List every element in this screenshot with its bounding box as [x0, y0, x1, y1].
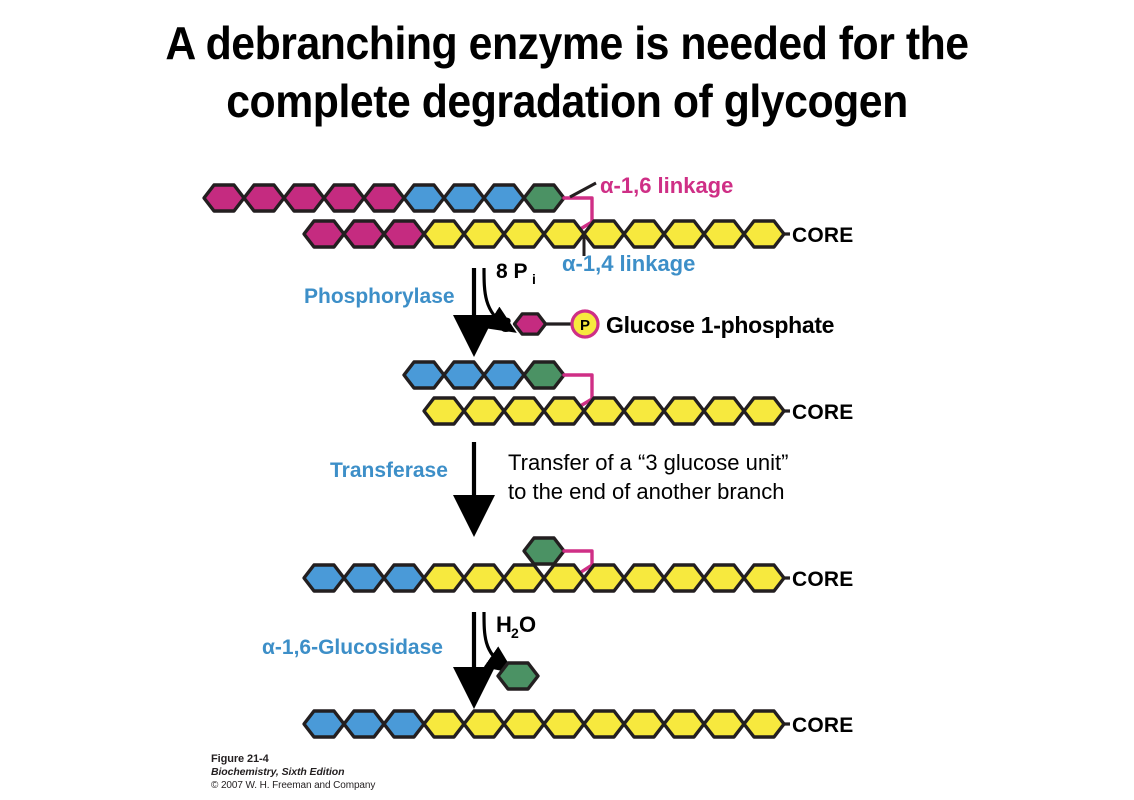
step2-main-residues — [424, 398, 784, 424]
glucose-1-phosphate-label: Glucose 1-phosphate — [606, 312, 834, 338]
free-glucose-product — [498, 663, 538, 689]
transfer-description-line-1: Transfer of a “3 glucose unit” — [508, 450, 788, 475]
step2-core-label: CORE — [792, 401, 853, 424]
step1-core-label: CORE — [792, 224, 853, 247]
glucose-1-phosphate-glyph: P — [514, 311, 598, 337]
pi-subscript: i — [532, 271, 536, 287]
step2-branch-residues — [404, 362, 564, 388]
glycogen-debranching-diagram: α-1,6 linkage — [0, 0, 1134, 800]
water-label: H — [496, 612, 512, 637]
pi-count-label: 8 P — [496, 260, 528, 283]
transfer-description-line-2: to the end of another branch — [508, 479, 784, 504]
water-oxygen: O — [519, 612, 536, 637]
step4-main-residues — [304, 711, 784, 737]
figure-copyright: © 2007 W. H. Freeman and Company — [211, 779, 375, 792]
alpha-1-4-linkage-label: α-1,4 linkage — [562, 251, 695, 276]
step4-core-label: CORE — [792, 714, 853, 737]
transferase-step: Transferase Transfer of a “3 glucose uni… — [330, 442, 788, 516]
transferase-label: Transferase — [330, 459, 448, 482]
figure-caption: Figure 21-4 Biochemistry, Sixth Edition … — [211, 752, 375, 792]
step-2-after-phosphorylase: CORE — [404, 362, 853, 424]
slide-canvas: A debranching enzyme is needed for the c… — [0, 0, 1134, 800]
water-subscript: 2 — [511, 625, 519, 641]
step1-branch-residues — [204, 185, 564, 211]
figure-source-book: Biochemistry, Sixth Edition — [211, 766, 375, 779]
step1-main-residues — [304, 221, 784, 247]
step3-branch-residue — [524, 538, 564, 564]
glucosidase-label: α-1,6-Glucosidase — [262, 636, 443, 659]
glucosidase-step: α-1,6-Glucosidase H 2 O — [262, 612, 538, 689]
step-1-branched-glycogen: α-1,6 linkage — [204, 173, 853, 276]
step1-alpha-1-6-leader — [570, 183, 596, 197]
step3-main-residues — [304, 565, 784, 591]
step-4-after-glucosidase: CORE — [304, 711, 853, 737]
step-3-after-transferase: CORE — [304, 538, 853, 591]
g1p-count-label: 8 — [500, 314, 512, 337]
step3-core-label: CORE — [792, 568, 853, 591]
figure-number: Figure 21-4 — [211, 752, 375, 766]
phosphate-letter: P — [580, 317, 590, 334]
phosphorylase-label: Phosphorylase — [304, 285, 455, 308]
alpha-1-6-linkage-label: α-1,6 linkage — [600, 173, 733, 198]
